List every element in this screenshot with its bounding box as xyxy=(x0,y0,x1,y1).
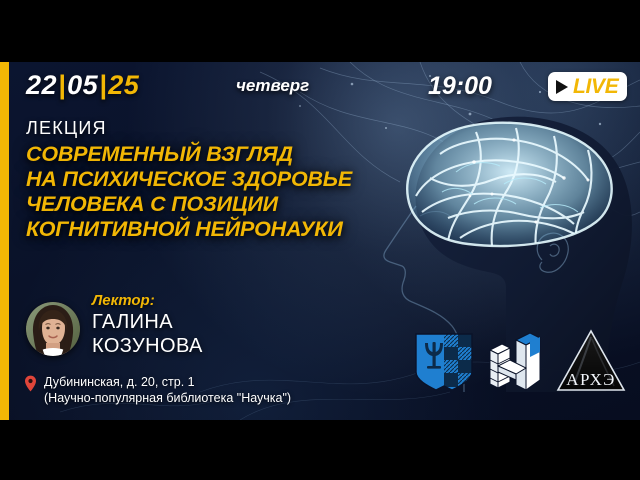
date-separator-2: | xyxy=(99,70,107,100)
page-title: СОВРЕМЕННЫЙ ВЗГЛЯД НА ПСИХИЧЕСКОЕ ЗДОРОВ… xyxy=(26,142,426,242)
lecturer-first-name: ГАЛИНА xyxy=(92,310,203,334)
date-separator-1: | xyxy=(58,70,66,100)
poster-header: 22|05|25 четверг 19:00 LIVE xyxy=(0,62,640,118)
letterbox-bottom xyxy=(0,420,640,480)
title-line-1: СОВРЕМЕННЫЙ ВЗГЛЯД xyxy=(26,142,426,167)
venue-block: Дубининская, д. 20, стр. 1 (Научно-попул… xyxy=(24,374,291,406)
event-weekday: четверг xyxy=(236,76,309,96)
venue-place: (Научно-популярная библиотека "Научка") xyxy=(44,390,291,406)
page-kicker: ЛЕКЦИЯ xyxy=(26,118,107,139)
arche-triangle-logo: АРХЭ xyxy=(556,328,626,394)
date-month: 05 xyxy=(67,70,98,100)
title-line-4: КОГНИТИВНОЙ НЕЙРОНАУКИ xyxy=(26,217,426,242)
title-line-2: НА ПСИХИЧЕСКОЕ ЗДОРОВЬЕ xyxy=(26,167,426,192)
venue-text: Дубининская, д. 20, стр. 1 (Научно-попул… xyxy=(44,374,291,406)
live-badge[interactable]: LIVE xyxy=(548,72,627,101)
letterbox-top xyxy=(0,0,640,62)
lecture-poster: 22|05|25 четверг 19:00 LIVE ЛЕКЦИЯ СОВРЕ… xyxy=(0,0,640,480)
play-icon xyxy=(556,80,568,94)
map-pin-icon xyxy=(24,375,37,392)
avatar xyxy=(26,302,80,356)
title-line-3: ЧЕЛОВЕКА С ПОЗИЦИИ xyxy=(26,192,426,217)
live-label: LIVE xyxy=(573,76,618,97)
arche-logo-text: АРХЭ xyxy=(566,370,615,389)
lecturer-label: Лектор: xyxy=(92,292,203,309)
nauchka-n-logo xyxy=(486,330,544,394)
event-time: 19:00 xyxy=(428,72,492,101)
poster-canvas: 22|05|25 четверг 19:00 LIVE ЛЕКЦИЯ СОВРЕ… xyxy=(0,62,640,420)
date-day: 22 xyxy=(26,70,57,100)
date-year: 25 xyxy=(108,70,139,100)
event-date: 22|05|25 xyxy=(26,70,139,101)
venue-address: Дубининская, д. 20, стр. 1 xyxy=(44,374,291,390)
logo-row: АРХЭ xyxy=(414,328,626,394)
lecturer-block: Лектор: ГАЛИНА КОЗУНОВА xyxy=(26,292,203,358)
mgppu-shield-logo xyxy=(414,332,474,394)
lecturer-last-name: КОЗУНОВА xyxy=(92,334,203,358)
